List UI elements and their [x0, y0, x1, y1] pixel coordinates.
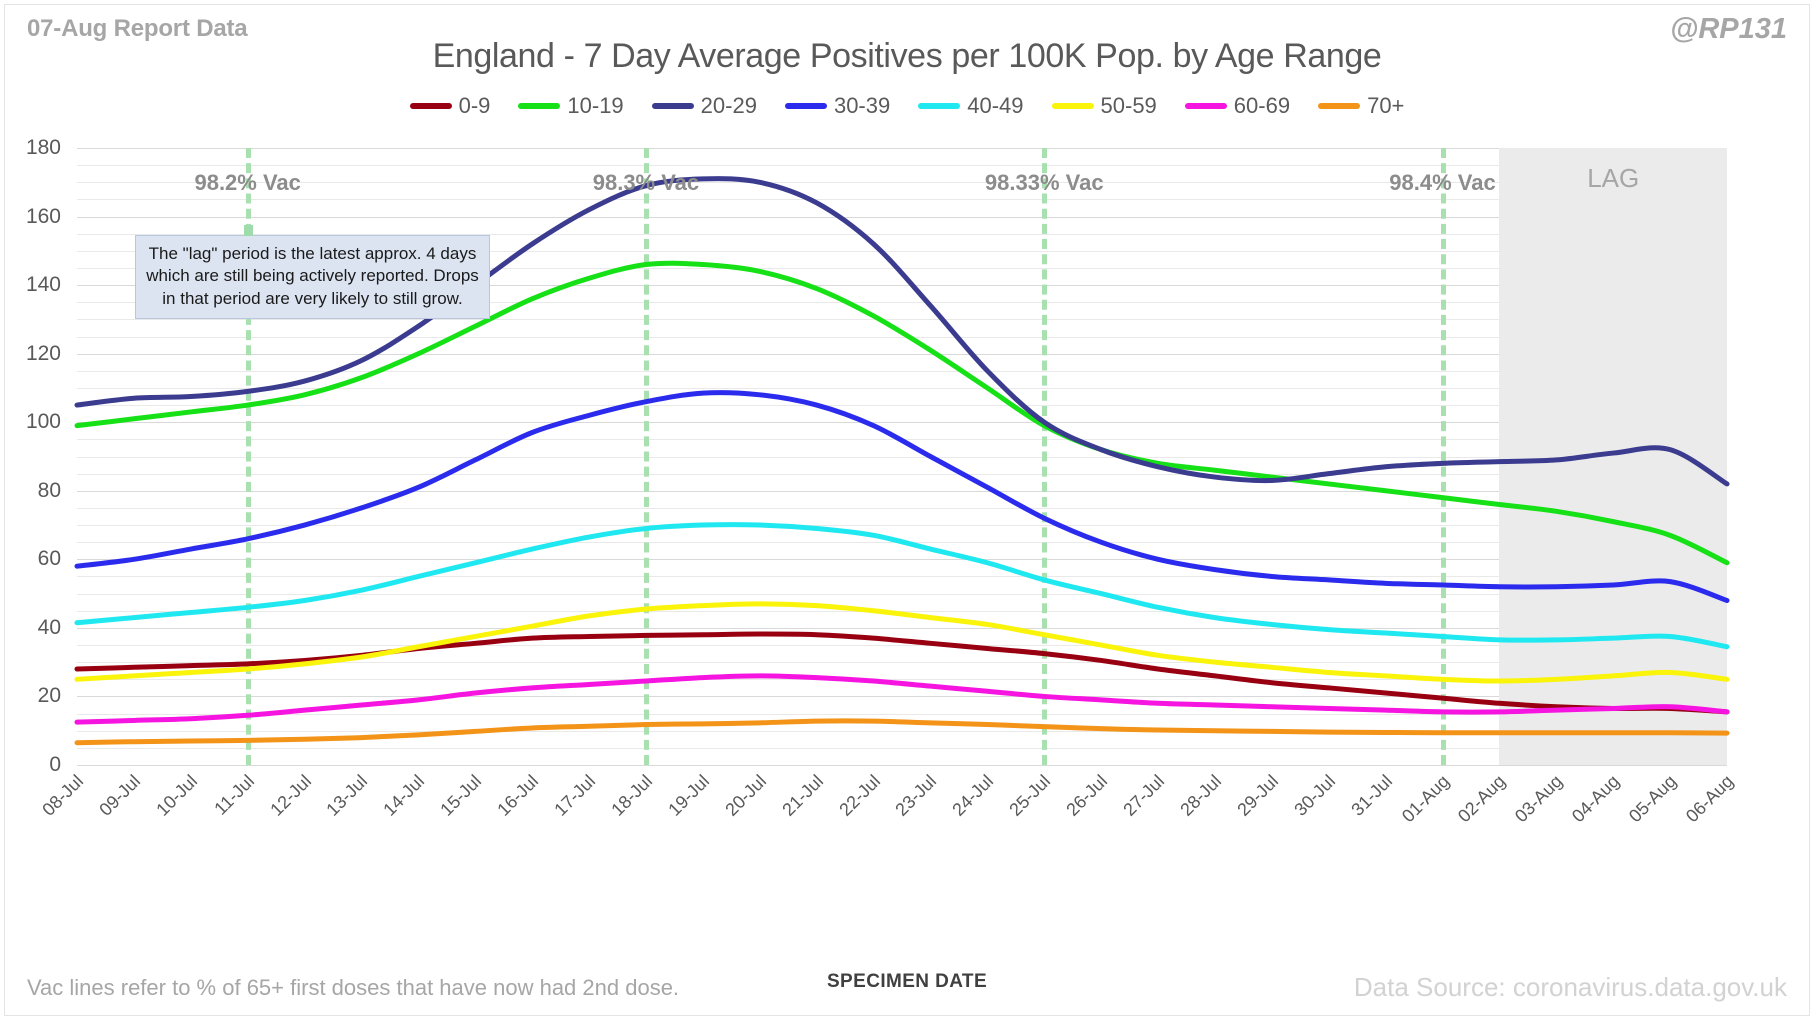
x-axis-tick-label: 01-Aug	[1397, 771, 1453, 827]
x-axis-tick-label: 27-Jul	[1119, 771, 1169, 821]
y-axis-tick-label: 40	[38, 616, 61, 640]
x-axis-tick-label: 31-Jul	[1347, 771, 1397, 821]
x-axis-tick-label: 15-Jul	[437, 771, 487, 821]
x-axis-labels: 08-Jul09-Jul10-Jul11-Jul12-Jul13-Jul14-J…	[77, 771, 1727, 891]
x-axis-tick-label: 26-Jul	[1062, 771, 1112, 821]
data-source-label: Data Source: coronavirus.data.gov.uk	[1354, 972, 1787, 1003]
legend-item-50-59[interactable]: 50-59	[1052, 93, 1157, 119]
x-axis-tick-label: 12-Jul	[266, 771, 316, 821]
x-axis-tick-label: 10-Jul	[152, 771, 202, 821]
legend-item-30-39[interactable]: 30-39	[785, 93, 890, 119]
lag-label: LAG	[1587, 163, 1639, 194]
x-axis-tick-label: 30-Jul	[1290, 771, 1340, 821]
legend-item-label: 50-59	[1101, 93, 1157, 119]
y-axis-tick-label: 180	[26, 136, 61, 160]
legend-item-10-19[interactable]: 10-19	[518, 93, 623, 119]
legend-swatch-icon	[1052, 103, 1094, 109]
legend-item-0-9[interactable]: 0-9	[410, 93, 491, 119]
y-axis-tick-label: 20	[38, 684, 61, 708]
vac-footnote: Vac lines refer to % of 65+ first doses …	[27, 975, 679, 1001]
chart-legend: 0-910-1920-2930-3940-4950-5960-6970+	[5, 93, 1809, 119]
y-axis-tick-label: 0	[49, 753, 61, 777]
series-line-30-39	[77, 393, 1727, 601]
y-axis-tick-label: 60	[38, 547, 61, 571]
lag-explanation-tooltip: The "lag" period is the latest approx. 4…	[135, 235, 490, 319]
x-axis-tick-label: 16-Jul	[494, 771, 544, 821]
legend-item-label: 40-49	[967, 93, 1023, 119]
x-axis-tick-label: 25-Jul	[1006, 771, 1056, 821]
series-line-0-9	[77, 634, 1727, 712]
chart-title: England - 7 Day Average Positives per 10…	[5, 37, 1809, 76]
x-axis-tick-label: 13-Jul	[323, 771, 373, 821]
vac-marker-label: 98.2% Vac	[194, 170, 300, 196]
vac-marker-label: 98.3% Vac	[593, 170, 699, 196]
series-line-70+	[77, 721, 1727, 743]
x-axis-tick-label: 04-Aug	[1568, 771, 1624, 827]
x-axis-tick-label: 29-Jul	[1233, 771, 1283, 821]
tooltip-stem	[244, 225, 253, 236]
x-axis-tick-label: 23-Jul	[892, 771, 942, 821]
vac-marker-label: 98.4% Vac	[1389, 170, 1495, 196]
legend-item-20-29[interactable]: 20-29	[652, 93, 757, 119]
vac-marker-label: 98.33% Vac	[985, 170, 1104, 196]
x-axis-tick-label: 06-Aug	[1682, 771, 1738, 827]
x-axis-tick-label: 03-Aug	[1511, 771, 1567, 827]
legend-item-70+[interactable]: 70+	[1318, 93, 1404, 119]
legend-item-label: 10-19	[567, 93, 623, 119]
legend-swatch-icon	[918, 103, 960, 109]
x-axis-tick-label: 22-Jul	[835, 771, 885, 821]
x-axis-tick-label: 02-Aug	[1454, 771, 1510, 827]
x-axis-tick-label: 19-Jul	[664, 771, 714, 821]
y-axis-labels: 020406080100120140160180	[5, 148, 69, 765]
x-axis-tick-label: 11-Jul	[210, 771, 259, 820]
y-axis-tick-label: 100	[26, 410, 61, 434]
legend-swatch-icon	[1185, 103, 1227, 109]
x-axis-tick-label: 09-Jul	[95, 771, 145, 821]
x-axis-tick-label: 21-Jul	[778, 771, 828, 821]
y-axis-tick-label: 140	[26, 273, 61, 297]
x-axis-tick-label: 28-Jul	[1176, 771, 1226, 821]
legend-swatch-icon	[410, 103, 452, 109]
x-axis-tick-label: 20-Jul	[721, 771, 771, 821]
legend-item-label: 30-39	[834, 93, 890, 119]
y-axis-tick-label: 160	[26, 205, 61, 229]
y-axis-tick-label: 80	[38, 479, 61, 503]
legend-item-label: 20-29	[701, 93, 757, 119]
legend-swatch-icon	[785, 103, 827, 109]
legend-item-label: 70+	[1367, 93, 1404, 119]
legend-item-label: 60-69	[1234, 93, 1290, 119]
x-axis-tick-label: 18-Jul	[607, 771, 657, 821]
legend-item-60-69[interactable]: 60-69	[1185, 93, 1290, 119]
x-axis-tick-label: 24-Jul	[949, 771, 999, 821]
x-axis-tick-label: 05-Aug	[1625, 771, 1681, 827]
y-axis-tick-label: 120	[26, 342, 61, 366]
legend-swatch-icon	[652, 103, 694, 109]
x-axis-tick-label: 17-Jul	[550, 771, 600, 821]
chart-frame: 07-Aug Report Data @RP131 England - 7 Da…	[4, 4, 1810, 1016]
legend-swatch-icon	[518, 103, 560, 109]
legend-item-40-49[interactable]: 40-49	[918, 93, 1023, 119]
x-axis-tick-label: 08-Jul	[38, 771, 88, 821]
gridline	[77, 765, 1727, 766]
legend-item-label: 0-9	[459, 93, 491, 119]
legend-swatch-icon	[1318, 103, 1360, 109]
x-axis-tick-label: 14-Jul	[380, 771, 430, 821]
